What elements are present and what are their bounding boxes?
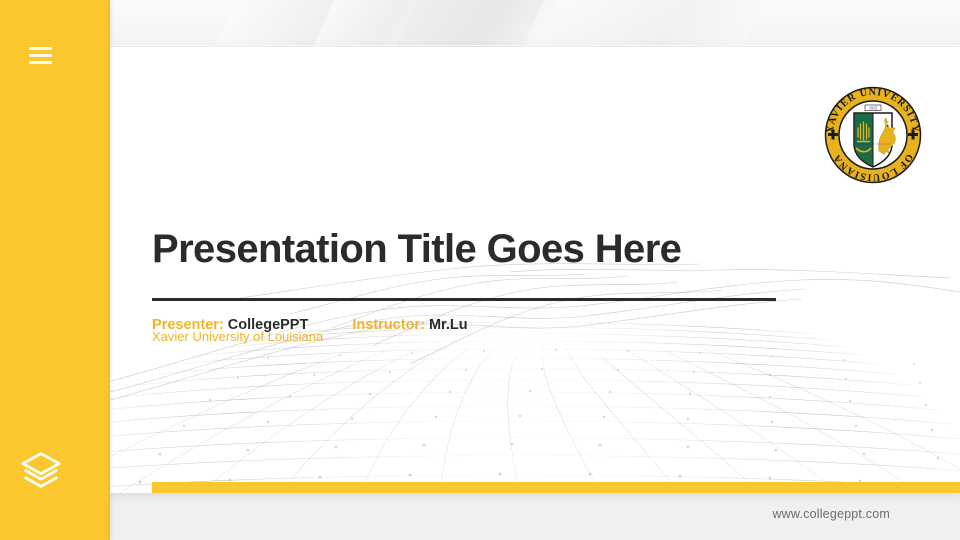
layers-stack-icon[interactable] <box>19 450 63 490</box>
header-backdrop-graphic <box>110 0 960 50</box>
slide-accent-bar <box>152 482 960 493</box>
title-divider <box>152 298 776 301</box>
footer-url: www.collegeppt.com <box>772 507 890 521</box>
left-sidebar <box>0 0 110 540</box>
presentation-viewer: XAVIER UNIVERSITY OF LOUISIANA 1915 <box>0 0 960 540</box>
instructor-value: Mr.Lu <box>429 317 468 333</box>
footer-bar: www.collegeppt.com <box>110 493 960 540</box>
page-title: Presentation Title Goes Here <box>152 227 852 271</box>
instructor-label: Instructor: <box>352 317 425 333</box>
xavier-university-seal: XAVIER UNIVERSITY OF LOUISIANA 1915 <box>823 85 923 185</box>
slide-canvas: XAVIER UNIVERSITY OF LOUISIANA 1915 <box>80 47 960 493</box>
sidebar-edge-shadow <box>106 0 110 540</box>
seal-date-banner: 1915 <box>869 106 877 111</box>
slide-text-block: Presentation Title Goes Here Presenter: … <box>152 227 852 333</box>
organization-name: Xavier University of Louisiana <box>152 329 323 344</box>
hamburger-menu-icon[interactable] <box>29 47 52 64</box>
